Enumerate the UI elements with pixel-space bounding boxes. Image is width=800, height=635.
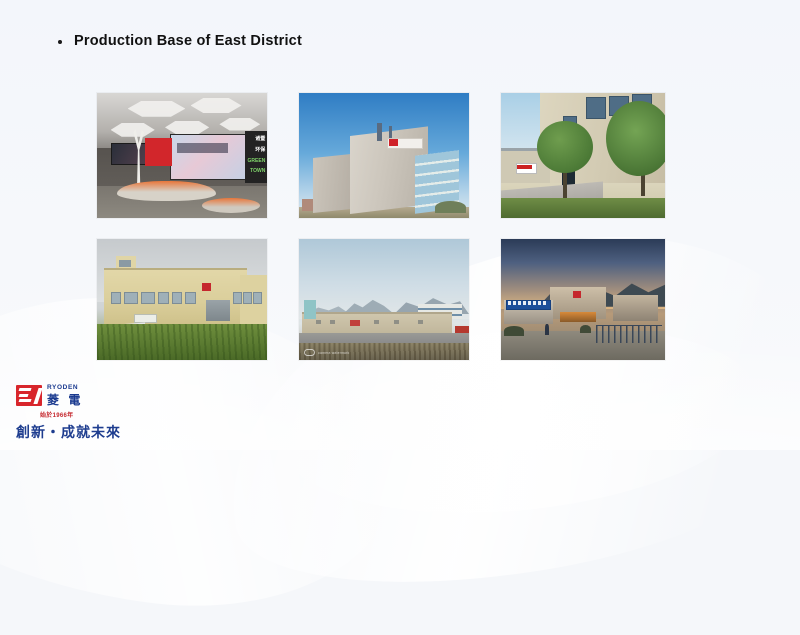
- photo-exhibition-hall[interactable]: 诸暨 环保 GREEN TOWN: [97, 93, 267, 218]
- photo-long-plant-mountains[interactable]: camera watermark: [299, 239, 469, 360]
- camera-icon: [304, 349, 315, 356]
- slide-title-row: Production Base of East District: [58, 33, 302, 49]
- photo-watermark: camera watermark: [304, 349, 349, 356]
- photo-office-tower[interactable]: [299, 93, 469, 218]
- ryoden-logo-icon: [16, 385, 42, 406]
- bullet-icon: [58, 40, 62, 44]
- photo-plant-trees[interactable]: [501, 93, 665, 218]
- led-wall-text-cn-2: 环保: [255, 147, 265, 153]
- slide-canvas: Production Base of East District 诸暨 环保 G…: [0, 0, 800, 450]
- brand-slogan: 創新・成就未來: [16, 422, 121, 442]
- photo-yellow-plant[interactable]: [97, 239, 267, 360]
- brand-established: 始於1966年: [40, 410, 121, 419]
- brand-logo-block: RYODEN 菱 電 始於1966年 創新・成就未來: [16, 385, 121, 442]
- led-wall-text-en-2: TOWN: [250, 168, 265, 174]
- brand-name-en: RYODEN: [47, 385, 83, 392]
- led-wall-text-cn-1: 诸暨: [255, 136, 265, 142]
- photo-entrance-dusk[interactable]: [501, 239, 665, 360]
- photo-grid: 诸暨 环保 GREEN TOWN: [97, 93, 665, 360]
- page-title: Production Base of East District: [74, 33, 302, 49]
- brand-name-cn: 菱 電: [47, 394, 83, 406]
- watermark-label: camera watermark: [318, 351, 349, 355]
- led-wall-text-en-1: GREEN: [248, 158, 266, 164]
